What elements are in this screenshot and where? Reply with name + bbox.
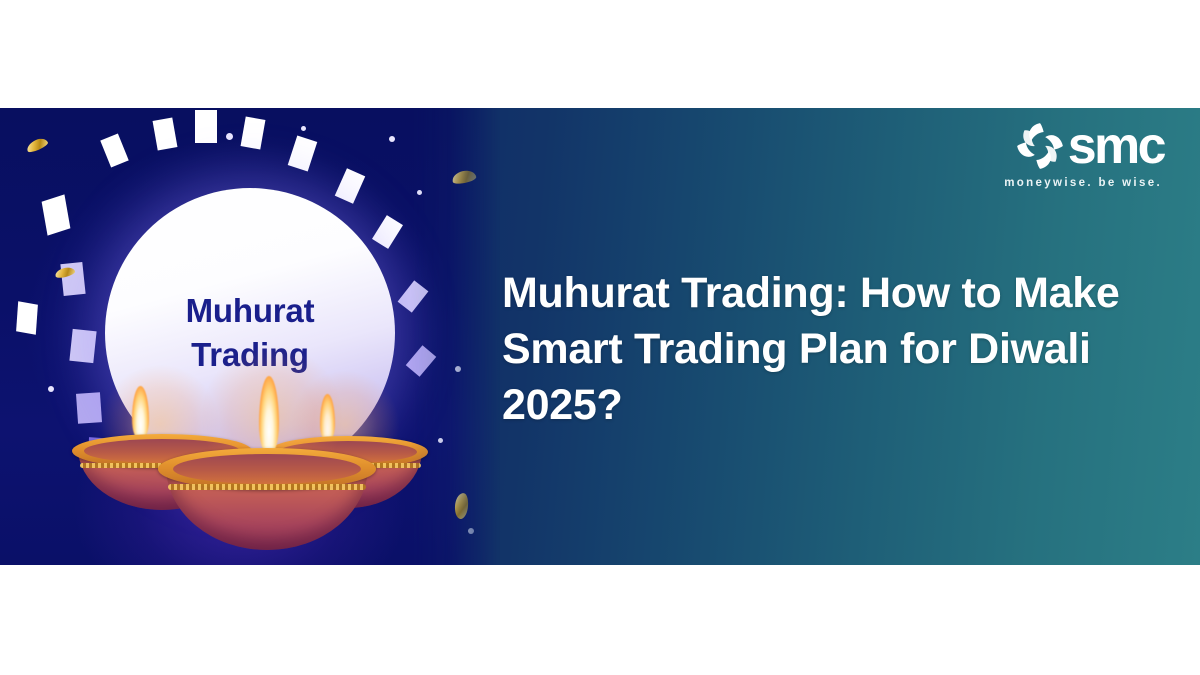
- confetti-dot-icon: [468, 528, 474, 534]
- confetti-diamond-icon: [241, 116, 266, 149]
- confetti-dot-icon: [455, 366, 461, 372]
- confetti-diamond-icon: [69, 329, 96, 363]
- confetti-ribbon-icon: [453, 492, 469, 520]
- confetti-diamond-icon: [16, 301, 38, 335]
- banner-headline: Muhurat Trading: How to Make Smart Tradi…: [502, 266, 1174, 434]
- badge-line-1: Muhurat: [186, 290, 315, 332]
- confetti-diamond-icon: [76, 392, 102, 424]
- confetti-diamond-icon: [406, 345, 437, 376]
- confetti-dot-icon: [301, 126, 306, 131]
- confetti-dot-icon: [438, 438, 443, 443]
- diwali-illustration: Muhurat Trading: [0, 108, 500, 565]
- confetti-diamond-icon: [42, 194, 71, 235]
- logo-row: smc: [1014, 120, 1164, 172]
- confetti-diamond-icon: [288, 136, 318, 172]
- diya-rim-inner: [173, 454, 361, 484]
- confetti-diamond-icon: [398, 280, 429, 312]
- confetti-dot-icon: [226, 133, 233, 140]
- smc-swirl-aperture-icon: [1014, 120, 1066, 172]
- diya-lamp-center: [158, 438, 376, 565]
- diya-bead-band: [168, 484, 366, 490]
- page-root: Muhurat Trading: [0, 0, 1200, 675]
- confetti-diamond-icon: [195, 110, 217, 143]
- confetti-diamond-icon: [100, 133, 128, 167]
- confetti-ribbon-icon: [451, 169, 477, 186]
- confetti-dot-icon: [417, 190, 422, 195]
- smc-tagline: moneywise. be wise.: [1004, 177, 1162, 189]
- article-banner: Muhurat Trading: [0, 108, 1200, 565]
- confetti-ribbon-icon: [25, 136, 49, 154]
- confetti-dot-icon: [48, 386, 54, 392]
- smc-brand-logo[interactable]: smc moneywise. be wise.: [1004, 120, 1164, 189]
- smc-wordmark: smc: [1068, 120, 1164, 172]
- confetti-diamond-icon: [153, 117, 178, 150]
- confetti-dot-icon: [389, 136, 395, 142]
